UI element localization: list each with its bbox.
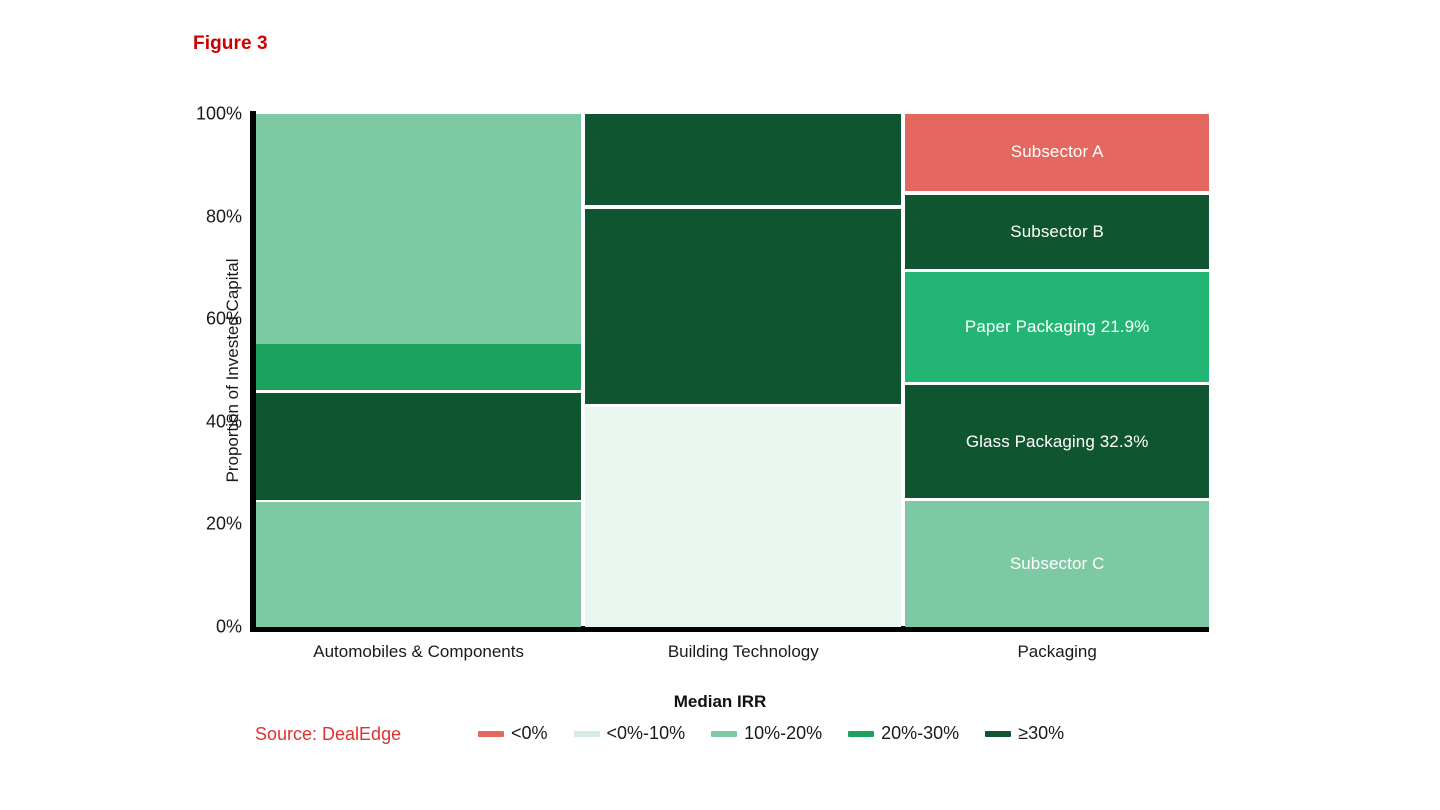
mosaic-segment[interactable]: [256, 114, 581, 344]
mosaic-column: [585, 114, 901, 627]
mosaic-segment[interactable]: [256, 393, 581, 500]
mosaic-column: [256, 114, 581, 627]
figure-canvas: Figure 3 Proportion of Invested Capital …: [0, 0, 1440, 810]
legend-label: 20%-30%: [881, 723, 959, 744]
legend-item[interactable]: 20%-30%: [848, 723, 959, 744]
mosaic-segment-label: Subsector B: [1010, 222, 1104, 242]
mosaic-segment[interactable]: Paper Packaging 21.9%: [905, 272, 1209, 382]
legend-label: <0%-10%: [607, 723, 686, 744]
y-axis-tick-label: 80%: [206, 206, 242, 227]
legend-item[interactable]: <0%: [478, 723, 548, 744]
legend-swatch-icon: [478, 731, 504, 737]
y-axis-tick-label: 20%: [206, 514, 242, 535]
mosaic-segment[interactable]: [256, 344, 581, 390]
mosaic-segment[interactable]: Subsector C: [905, 501, 1209, 627]
mosaic-segment[interactable]: [585, 407, 901, 627]
mosaic-segment-label: Paper Packaging 21.9%: [965, 317, 1150, 337]
legend-label: <0%: [511, 723, 548, 744]
mosaic-segment-label: Glass Packaging 32.3%: [966, 432, 1149, 452]
source-note: Source: DealEdge: [255, 724, 401, 745]
legend-swatch-icon: [574, 731, 600, 737]
y-axis-title: Proportion of Invested Capital: [218, 114, 248, 627]
mosaic-segment[interactable]: [585, 114, 901, 205]
page-title: Figure 3: [193, 33, 268, 55]
mosaic-segment-label: Subsector A: [1011, 142, 1104, 162]
legend-item[interactable]: ≥30%: [985, 723, 1064, 744]
legend-item[interactable]: <0%-10%: [574, 723, 686, 744]
legend-swatch-icon: [711, 731, 737, 737]
x-axis-tick-label: Automobiles & Components: [256, 642, 581, 662]
legend: <0%<0%-10%10%-20%20%-30%≥30%: [478, 723, 1090, 744]
x-axis-tick-label: Packaging: [905, 642, 1209, 662]
mosaic-segment[interactable]: [585, 209, 901, 404]
mosaic-segment[interactable]: [256, 502, 581, 627]
mosaic-column: Subsector ASubsector BPaper Packaging 21…: [905, 114, 1209, 627]
y-axis-tick-label: 60%: [206, 309, 242, 330]
legend-swatch-icon: [848, 731, 874, 737]
legend-swatch-icon: [985, 731, 1011, 737]
legend-title: Median IRR: [0, 692, 1440, 712]
mosaic-segment[interactable]: Glass Packaging 32.3%: [905, 385, 1209, 498]
legend-label: ≥30%: [1018, 723, 1064, 744]
y-axis-tick-label: 100%: [196, 104, 242, 125]
mosaic-segment[interactable]: Subsector B: [905, 195, 1209, 269]
legend-item[interactable]: 10%-20%: [711, 723, 822, 744]
mosaic-segment[interactable]: Subsector A: [905, 114, 1209, 191]
mosaic-segment-label: Subsector C: [1010, 554, 1105, 574]
y-axis-tick-label: 0%: [216, 617, 242, 638]
y-axis-tick-label: 40%: [206, 411, 242, 432]
legend-label: 10%-20%: [744, 723, 822, 744]
x-axis-tick-label: Building Technology: [585, 642, 901, 662]
mosaic-plot: Proportion of Invested Capital 0%20%40%6…: [256, 114, 1209, 627]
